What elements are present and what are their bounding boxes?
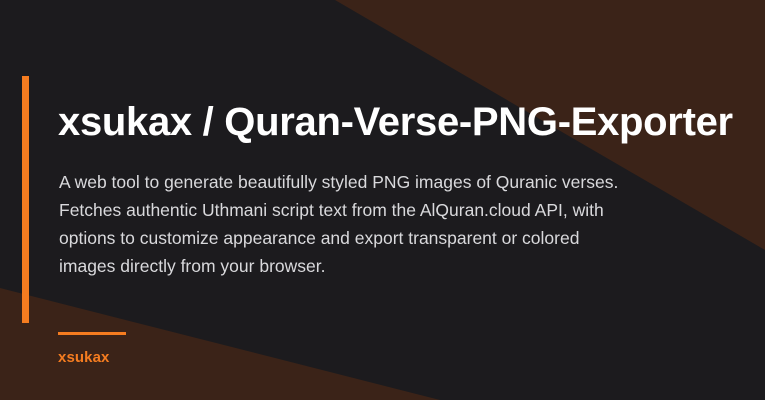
left-accent-bar	[22, 76, 29, 323]
description-line: options to customize appearance and expo…	[59, 224, 659, 252]
page-title: xsukax / Quran-Verse-PNG-Exporter	[58, 98, 733, 146]
card-content: xsukax / Quran-Verse-PNG-Exporter A web …	[58, 0, 718, 400]
repo-social-card: xsukax / Quran-Verse-PNG-Exporter A web …	[0, 0, 765, 400]
footer-divider	[58, 332, 126, 335]
repo-description: A web tool to generate beautifully style…	[59, 168, 659, 280]
footer-owner-label: xsukax	[58, 349, 358, 366]
description-line: Fetches authentic Uthmani script text fr…	[59, 196, 659, 224]
card-footer: xsukax	[58, 332, 358, 366]
description-line: images directly from your browser.	[59, 252, 659, 280]
description-line: A web tool to generate beautifully style…	[59, 168, 659, 196]
